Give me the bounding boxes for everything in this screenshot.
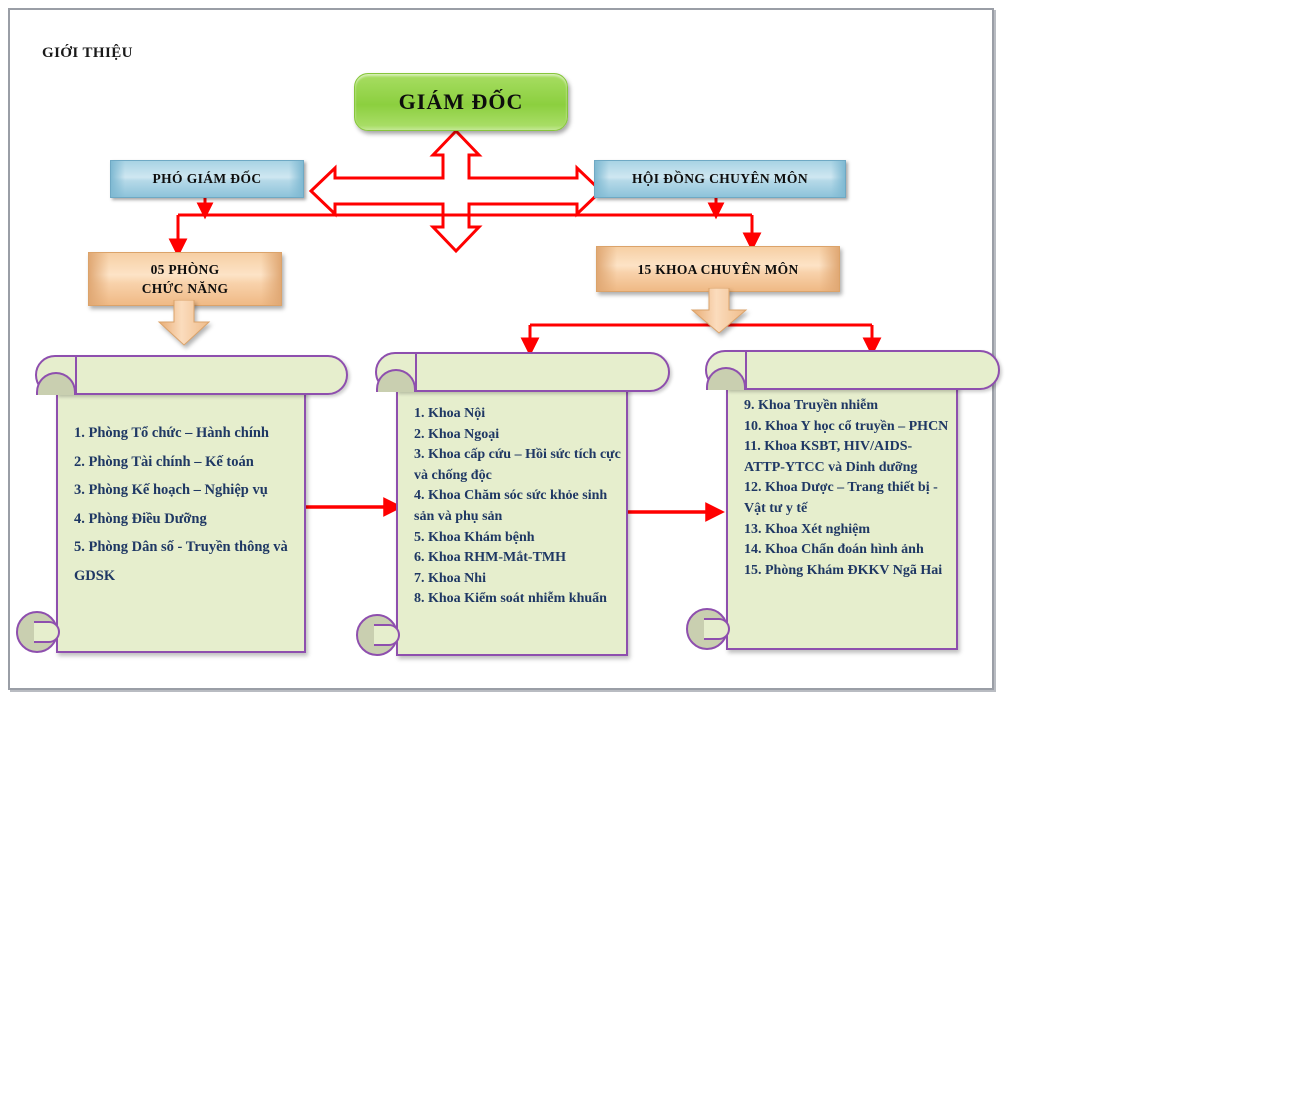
node-deputy-director[interactable]: PHÓ GIÁM ĐỐC (110, 160, 304, 198)
node-professional-council-label: HỘI ĐỒNG CHUYÊN MÔN (632, 171, 808, 187)
list-item: 2. Phòng Tài chính – Kế toán (74, 448, 296, 477)
node-specialist-departments[interactable]: 15 KHOA CHUYÊN MÔN (596, 246, 840, 292)
down-arrow-icon-functional-rooms (155, 300, 213, 346)
node-professional-council[interactable]: HỘI ĐỒNG CHUYÊN MÔN (594, 160, 846, 198)
page-title: GIỚI THIỆU (42, 45, 133, 62)
list-functional-rooms: 1. Phòng Tổ chức – Hành chính 2. Phòng T… (74, 419, 296, 590)
list-item: 1. Khoa Nội (414, 404, 622, 425)
node-deputy-director-label: PHÓ GIÁM ĐỐC (152, 171, 261, 187)
list-item: 6. Khoa RHM-Mắt-TMH (414, 548, 622, 569)
node-director-label: GIÁM ĐỐC (399, 89, 524, 115)
node-functional-rooms-line1: 05 PHÒNG (142, 260, 229, 279)
list-departments-1-8: 1. Khoa Nội 2. Khoa Ngoại 3. Khoa cấp cứ… (414, 404, 622, 610)
list-item: 2. Khoa Ngoại (414, 425, 622, 446)
scroll-functional-rooms: 1. Phòng Tổ chức – Hành chính 2. Phòng T… (18, 355, 330, 665)
list-item: 9. Khoa Truyền nhiễm (744, 396, 950, 417)
list-item: 4. Phòng Điều Dưỡng (74, 505, 296, 534)
org-chart-page: GIỚI THIỆU (0, 0, 1300, 1109)
node-functional-rooms-line2: CHỨC NĂNG (142, 279, 229, 298)
list-item: 5. Khoa Khám bệnh (414, 528, 622, 549)
list-item: 4. Khoa Chăm sóc sức khỏe sinh sản và ph… (414, 486, 622, 527)
list-item: 7. Khoa Nhi (414, 569, 622, 590)
list-departments-9-15: 9. Khoa Truyền nhiễm 10. Khoa Y học cổ t… (744, 396, 950, 581)
down-arrow-icon-specialist-departments (688, 288, 750, 334)
scroll-departments-9-15: 9. Khoa Truyền nhiễm 10. Khoa Y học cổ t… (688, 350, 988, 662)
node-director[interactable]: GIÁM ĐỐC (354, 73, 568, 131)
scroll-departments-1-8: 1. Khoa Nội 2. Khoa Ngoại 3. Khoa cấp cứ… (358, 352, 658, 664)
list-item: 10. Khoa Y học cổ truyền – PHCN (744, 417, 950, 438)
node-specialist-departments-label: 15 KHOA CHUYÊN MÔN (637, 260, 798, 279)
node-functional-rooms[interactable]: 05 PHÒNG CHỨC NĂNG (88, 252, 282, 306)
list-item: 1. Phòng Tổ chức – Hành chính (74, 419, 296, 448)
list-item: 5. Phòng Dân số - Truyền thông và GDSK (74, 533, 296, 590)
list-item: 3. Phòng Kế hoạch – Nghiệp vụ (74, 476, 296, 505)
list-item: 8. Khoa Kiểm soát nhiễm khuẩn (414, 589, 622, 610)
list-item: 15. Phòng Khám ĐKKV Ngã Hai (744, 561, 950, 582)
list-item: 13. Khoa Xét nghiệm (744, 520, 950, 541)
list-item: 3. Khoa cấp cứu – Hồi sức tích cực và ch… (414, 445, 622, 486)
list-item: 14. Khoa Chẩn đoán hình ảnh (744, 540, 950, 561)
list-item: 12. Khoa Dược – Trang thiết bị - Vật tư … (744, 478, 950, 519)
list-item: 11. Khoa KSBT, HIV/AIDS-ATTP-YTCC và Din… (744, 437, 950, 478)
